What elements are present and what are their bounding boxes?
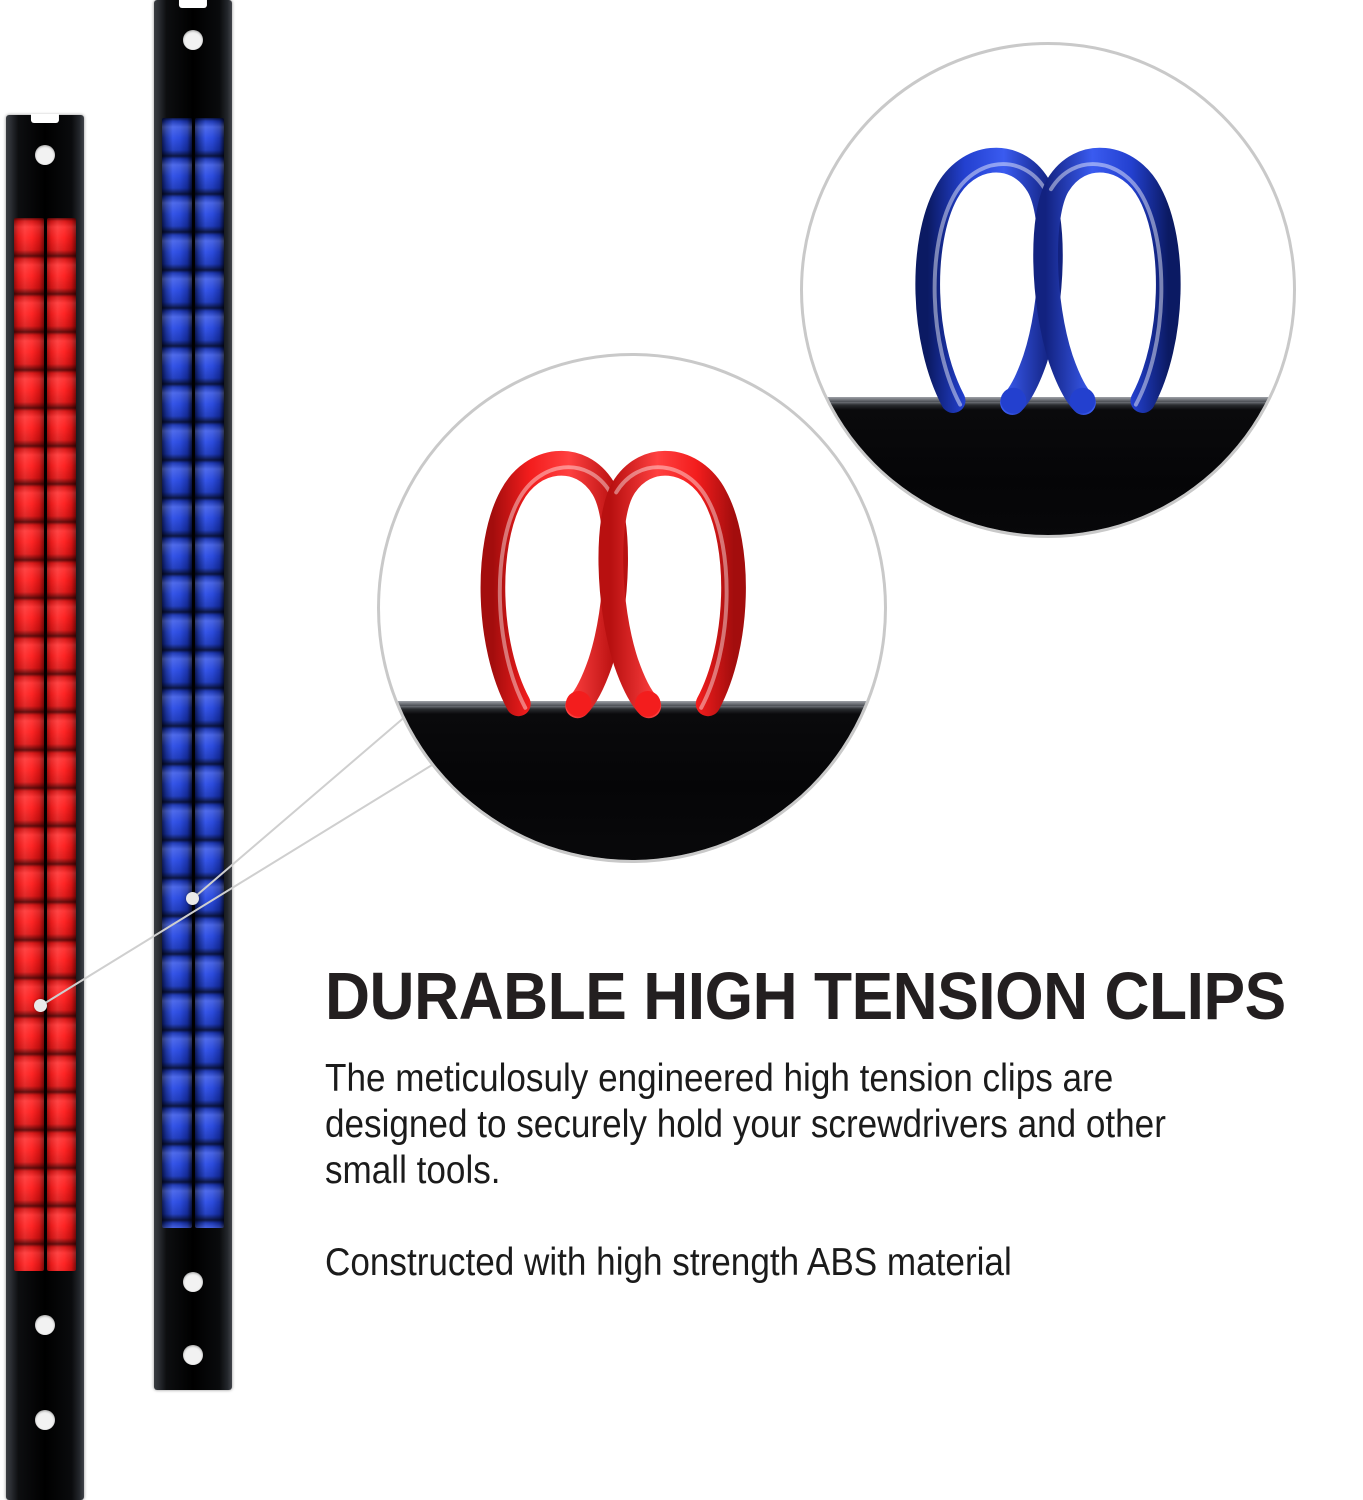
rail-top-notch-blue [179, 0, 207, 8]
callout-red-clip [377, 353, 887, 863]
feature-description-primary: The meticulosuly engineered high tension… [325, 1056, 1245, 1194]
mount-hole-blue-lower-1 [183, 1272, 203, 1292]
callout-red-clip-loops [380, 356, 884, 860]
infographic-canvas: DURABLE HIGH TENSION CLIPS The meticulos… [0, 0, 1363, 1500]
product-rail-blue [154, 0, 232, 1390]
leader-dot-blue-rail [186, 892, 199, 905]
mount-hole-red-top [35, 145, 55, 165]
page-title: DURABLE HIGH TENSION CLIPS [325, 962, 1275, 1032]
mount-hole-blue-top [183, 30, 203, 50]
clip-column-red-right [47, 218, 77, 1271]
mount-hole-red-lower-1 [35, 1315, 55, 1335]
rail-top-notch-red [31, 114, 59, 123]
clip-strip-blue [162, 118, 224, 1228]
mount-hole-red-lower-2 [35, 1410, 55, 1430]
clip-column-red-left [14, 218, 44, 1271]
mount-hole-blue-lower-2 [183, 1345, 203, 1365]
clip-strip-red [14, 218, 76, 1271]
feature-text-block: DURABLE HIGH TENSION CLIPS The meticulos… [325, 962, 1347, 1286]
feature-description-secondary: Constructed with high strength ABS mater… [325, 1240, 1245, 1286]
clip-column-blue-right [195, 118, 225, 1228]
product-rail-red [6, 115, 84, 1500]
clip-column-blue-left [162, 118, 192, 1228]
leader-dot-red-rail [34, 999, 47, 1012]
